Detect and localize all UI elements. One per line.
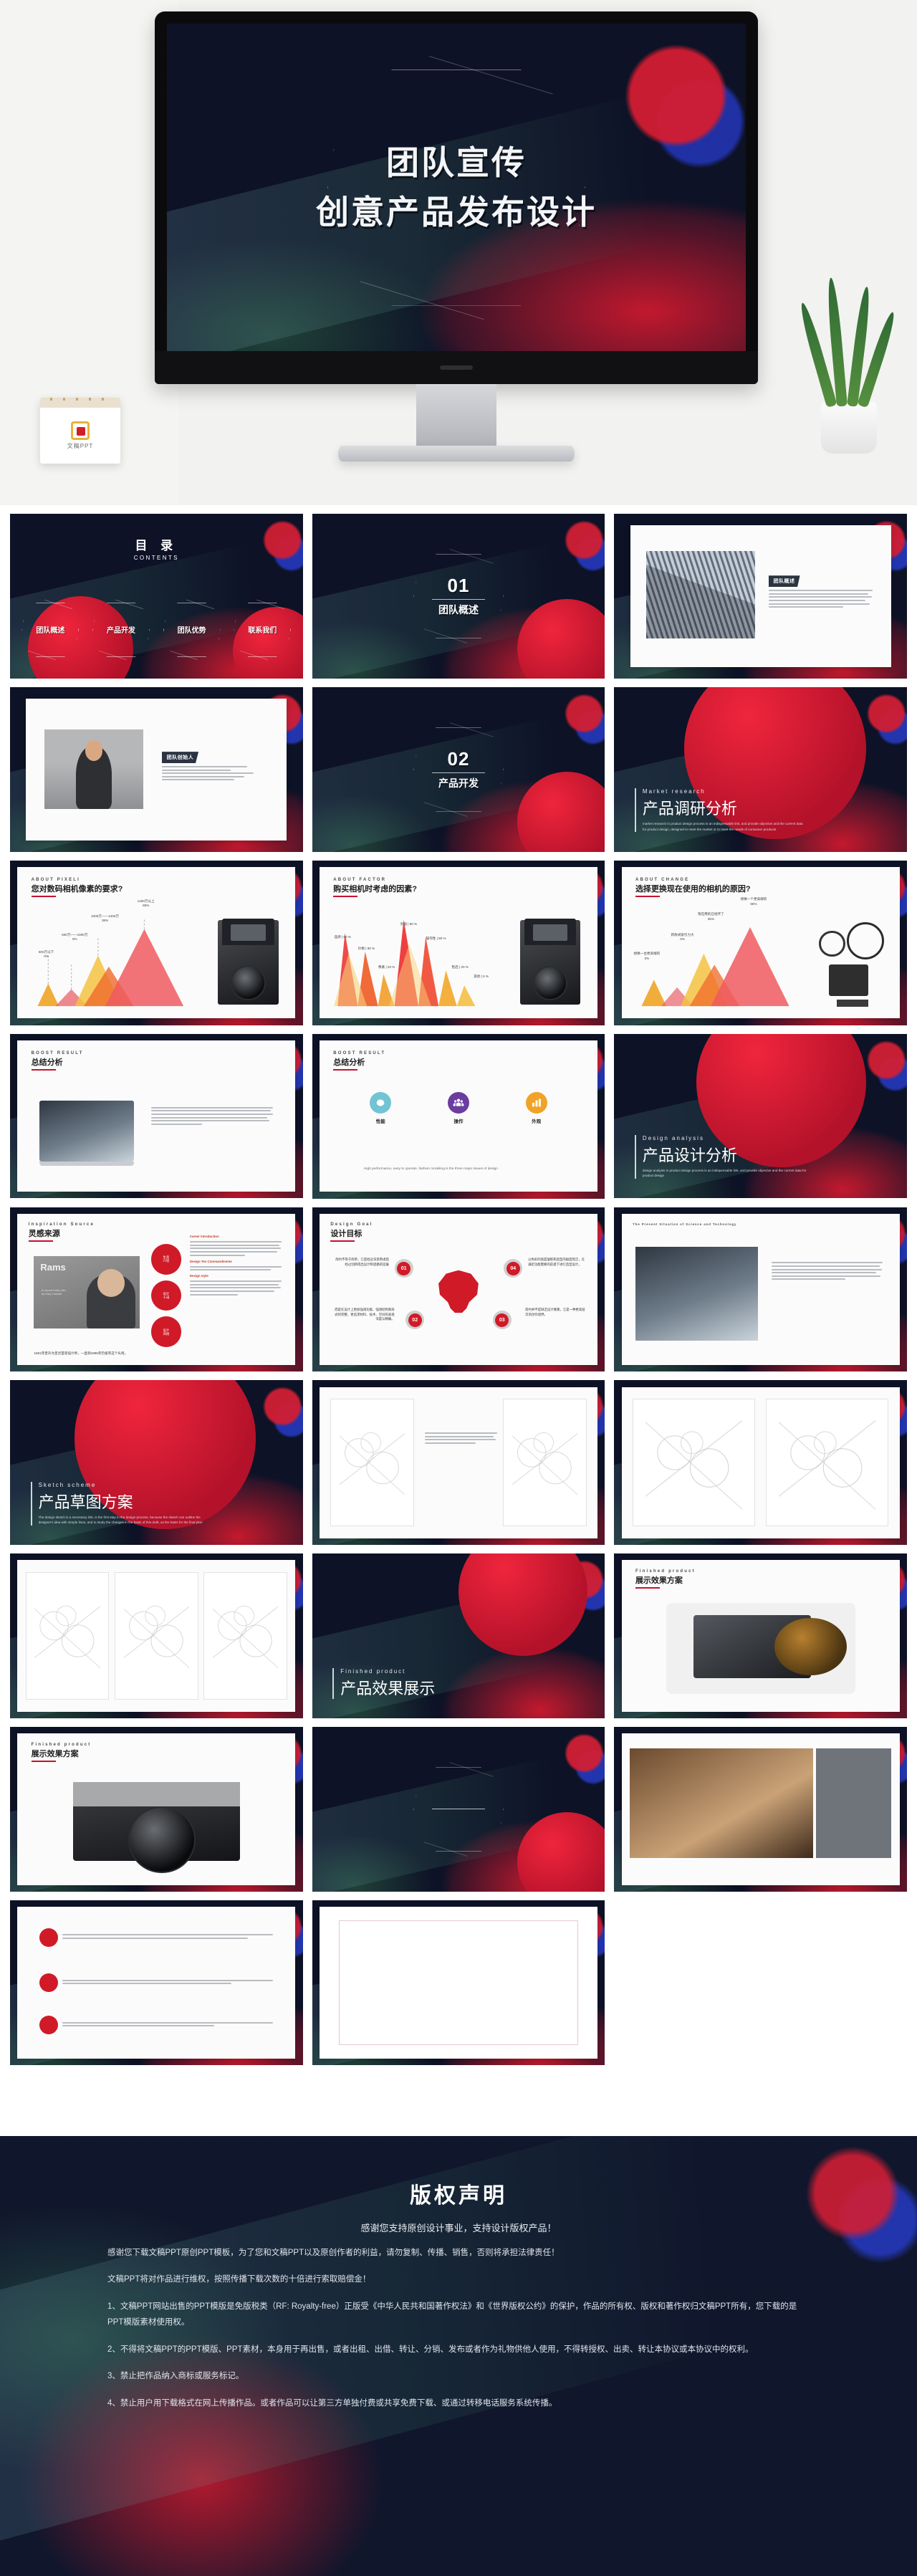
chart-eyebrow: ABOUT PIXELI (32, 878, 123, 882)
section-head: Design Ten Commandments (190, 1260, 282, 1263)
monitor-screen: 团队宣传 创意产品发布设计 (167, 24, 746, 351)
chart-title: 选择更换现在使用的相机的原因? (635, 883, 751, 894)
slide-thumb-boost-result-icons[interactable]: BOOST RESULT 总结分析 性能 操作 (312, 1034, 605, 1199)
toc-title-en: CONTENTS (10, 555, 303, 561)
area-chart: 想换一台更高端的0% 新款式吸引力大0% 现在用的已经坏了35% 想换一个更高端… (633, 912, 810, 1006)
slide-thumb-design-goal[interactable]: Design Goal 设计目标 01 02 03 04 简约不等于简单，它是经… (312, 1207, 605, 1372)
copyright-content: 版权声明 感谢您支持原创设计事业，支持设计版权产品！ 感谢您下载文稿PPT原创P… (0, 2136, 917, 2411)
big-title-block: Finished product 产品效果展示 (332, 1668, 435, 1699)
monitor-stand-base (338, 446, 575, 461)
slide-content-card: BOOST RESULT 总结分析 性能 操作 (320, 1040, 597, 1192)
body-text-lines (769, 590, 873, 608)
slide-title: 展示效果方案 (635, 1574, 696, 1586)
slide-thumb-inspiration[interactable]: Inspiration Source 灵感来源 Rams A documenta… (10, 1207, 303, 1372)
bars-icon (526, 1092, 547, 1114)
calendar-body: 文稿PPT (40, 408, 120, 464)
chart-value: 0% (44, 954, 49, 958)
camera-lens (128, 1806, 195, 1873)
chart-value: 65% (143, 904, 149, 907)
point-text-01: 简约不等于简单，它是经过深思熟虑后经过创新得出设计和思路的延展 (333, 1258, 389, 1268)
slide-thumb-effect-2[interactable]: Finished product 展示效果方案 (10, 1727, 303, 1892)
icon-item-operation[interactable]: 操作 (448, 1092, 469, 1124)
laptop-photo (39, 1101, 134, 1162)
slide-title: 总结分析 (32, 1056, 84, 1068)
chart-label: 现在用的已经坏了 (698, 912, 724, 916)
chart-title: 购买相机时考虑的因素? (333, 883, 417, 894)
monitor-stand-neck (416, 384, 496, 450)
slide-content-card: ABOUT FACTOR 购买相机时考虑的因素? 品牌 | 80 % 价 (320, 867, 597, 1018)
slide-content-card: ABOUT CHANGE 选择更换现在使用的相机的原因? 想换一台更高端的0% … (622, 867, 900, 1018)
sketch-page (115, 1572, 198, 1700)
toc-item-1[interactable]: 团队概述 (21, 603, 79, 657)
accent-underline (32, 1761, 56, 1762)
people-icon (448, 1092, 469, 1114)
slide-eyebrow: BOOST RESULT (333, 1051, 385, 1055)
sketch-page (503, 1399, 586, 1526)
copyright-p3: 1、文稿PPT网站出售的PPT模版是免版税类（RF: Royalty-free）… (107, 2299, 810, 2331)
desk-photo (630, 1748, 813, 1857)
slide-title: 总结分析 (333, 1056, 385, 1068)
title-en: Design analysis (643, 1135, 807, 1141)
chart-label: 新款式吸引力大 (671, 933, 694, 937)
camera-illustration (514, 919, 587, 1007)
chart-eyebrow: ABOUT CHANGE (635, 878, 751, 882)
advantage-badge (39, 1973, 58, 1992)
title-desc: design analysis in product design proces… (643, 1168, 807, 1179)
hexagon-frame-icon (403, 715, 514, 823)
poster-subtitle: A documentary film by Gary Hustwit (42, 1288, 66, 1296)
brain-bulb-icon (436, 1270, 481, 1315)
chart-label: 1400万以上 (138, 899, 155, 903)
hexagon-frame-icon (403, 542, 514, 650)
copyright-p5: 3、禁止把作品纳入商标或服务标记。 (107, 2368, 810, 2384)
slide-thumb-sketch-c[interactable] (10, 1553, 303, 1718)
toc-heading: 目 录 CONTENTS (10, 535, 303, 561)
poster-title: Rams (40, 1262, 65, 1273)
copyright-p2: 文稿PPT将对作品进行维权，按照传播下载次数的十倍进行索取赔偿金！ (107, 2271, 810, 2287)
title-zh: 产品草图方案 (39, 1490, 203, 1513)
slide-eyebrow: BOOST RESULT (32, 1051, 84, 1055)
accent-underline (330, 1240, 355, 1242)
body-text-lines (162, 766, 266, 780)
slide-thumb-about-pixel[interactable]: ABOUT PIXELI 您对数码相机像素的要求? 600万以下0% 6 (10, 861, 303, 1025)
point-number: 01 (397, 1262, 411, 1275)
monitor-logo (440, 365, 473, 370)
spike-chart: 品牌 | 80 % 价格 | 60 % 像素 | 20 % 外观 | 90 % … (330, 912, 514, 1006)
toc-item-label: 团队概述 (36, 624, 64, 635)
slide-eyebrow: Finished product (635, 1569, 696, 1574)
slide-thumb-market-research[interactable]: Market research 产品调研分析 market research i… (614, 687, 907, 852)
block-title: 团队概述 (769, 575, 800, 587)
chart-title: 您对数码相机像素的要求? (32, 883, 123, 894)
monitor-chin (155, 351, 758, 384)
slide-thumb-effect-1[interactable]: Finished product 展示效果方案 (614, 1553, 907, 1718)
thankyou-block (320, 1907, 597, 2058)
founder-photo (44, 729, 143, 809)
hands-camera-photo (635, 1247, 758, 1341)
toc-item-label: 联系我们 (248, 624, 277, 635)
title-line-1: 团队宣传 (386, 144, 527, 181)
hexagon-frame-icon (403, 1755, 514, 1863)
slide-content-card: 团队概述 (630, 525, 891, 667)
toc-item-4[interactable]: 联系我们 (234, 603, 291, 657)
section-divider: 02 产品开发 (312, 687, 605, 852)
sketch-page (330, 1399, 413, 1526)
toc-item-label: 团队优势 (178, 624, 206, 635)
calendar-logo-icon (71, 421, 90, 440)
slide-thumb-thank-you[interactable] (312, 1900, 605, 2065)
point-bubble-01[interactable]: 01 (395, 1259, 413, 1278)
accent-underline (333, 1069, 357, 1071)
accent-underline (29, 1240, 53, 1242)
advantage-row-2[interactable] (39, 1973, 273, 1992)
title-desc: The design sketch is a necessary link, i… (39, 1515, 203, 1526)
toc-items: 团队概述 产品开发 团队优势 联系我们 (21, 603, 291, 657)
slide-title: 展示效果方案 (32, 1748, 92, 1759)
sketch-page (26, 1572, 109, 1700)
icon-item-performance[interactable]: 性能 (370, 1092, 391, 1124)
title-slide-heading: 团队宣传 创意产品发布设计 (167, 138, 746, 237)
camera-top-plate (73, 1782, 240, 1806)
chart-label: 600万以下 (39, 950, 54, 954)
slide-thumb-about-change[interactable]: ABOUT CHANGE 选择更换现在使用的相机的原因? 想换一台更高端的0% … (614, 861, 907, 1025)
slide-content-card (320, 1387, 597, 1538)
title-slide-artwork: 团队宣传 创意产品发布设计 (167, 24, 746, 351)
slide-content-card (622, 1387, 900, 1538)
point-text-03: 简约并不是缺乏设计要素，它是一种更高层次的创作境界。 (525, 1308, 586, 1318)
chart-label: 想换一个更高端的 (741, 897, 767, 901)
copyright-heading: 版权声明 (107, 2178, 810, 2209)
advantage-badge (39, 2016, 58, 2034)
slide-content-card: Design Goal 设计目标 01 02 03 04 简约不等于简单，它是经… (320, 1214, 597, 1365)
point-bubble-02[interactable]: 02 (405, 1311, 424, 1329)
slide-eyebrow: Inspiration Source (29, 1222, 95, 1227)
body-text-lines (151, 1107, 274, 1127)
rams-poster: Rams A documentary film by Gary Hustwit (34, 1256, 140, 1329)
slide-content-card: Finished product 展示效果方案 (622, 1560, 900, 1711)
slide-thumb-toc[interactable]: 目 录 CONTENTS 团队概述 产品开发 团队优势 联系我们 (10, 514, 303, 679)
toc-title-zh: 目 录 (10, 535, 303, 553)
monitor-mockup: 团队宣传 创意产品发布设计 (155, 11, 758, 384)
desk-calendar: 文稿PPT (40, 398, 120, 464)
badge-commandments[interactable]: 设计十诫 (151, 1280, 182, 1311)
copyright-p6: 4、禁止用户用下载格式在网上传播作品。或者作品可以让第三方单独付费或共享免费下载… (107, 2395, 810, 2411)
slide-content-card: Finished product 展示效果方案 (17, 1733, 295, 1885)
area-chart: 600万以下0% 600万——1000万0% 1000万——1400万35% 1… (29, 912, 206, 1006)
point-number: 04 (506, 1262, 520, 1275)
accent-underline (635, 896, 660, 897)
slide-thumb-product-effect[interactable]: Finished product 产品效果展示 (312, 1553, 605, 1718)
slide-title: 灵感来源 (29, 1227, 95, 1239)
title-zh: 产品效果展示 (340, 1676, 435, 1699)
projector-illustration (816, 919, 888, 1007)
slide-content-card: 团队创始人 (26, 699, 287, 841)
icon-row: 性能 操作 外观 (342, 1092, 575, 1124)
copyright-lead: 感谢您支持原创设计事业，支持设计版权产品！ (107, 2221, 810, 2234)
slide-thumb-about-factor[interactable]: ABOUT FACTOR 购买相机时考虑的因素? 品牌 | 80 % 价 (312, 861, 605, 1025)
slide-thumb-sketch-scheme[interactable]: Sketch scheme 产品草图方案 The design sketch i… (10, 1380, 303, 1545)
section-head: Design style (190, 1274, 282, 1278)
rams-caption: 1961年晋升为百灵首席设计师，一直到1995年仍留有这个头衔。 (34, 1351, 145, 1356)
icon-label: 外观 (526, 1117, 547, 1124)
accent-underline (32, 1069, 56, 1071)
point-text-04: 以色彩的高度凝练和造型的极度简洁，在满足功能需要的前提下进行造型设计。 (528, 1258, 587, 1268)
chart-value: 0% (72, 937, 77, 941)
title-desc: market research in product design proces… (643, 821, 807, 832)
laptop-base (39, 1162, 134, 1166)
badge-style[interactable]: 设计风格 (151, 1316, 182, 1347)
gear-icon (370, 1092, 391, 1114)
body-text-lines (772, 1262, 883, 1282)
slide-thumb-advantage-list[interactable] (10, 1900, 303, 2065)
plant-pot (821, 402, 877, 454)
sketch-page (633, 1399, 755, 1526)
plant-decoration (805, 274, 891, 454)
slide-content-card (320, 1907, 597, 2058)
advantage-badge (39, 1928, 58, 1947)
slide-thumb-section-02[interactable]: 02 产品开发 (312, 687, 605, 852)
slide-content-card: ABOUT PIXELI 您对数码相机像素的要求? 600万以下0% 6 (17, 867, 295, 1018)
toc-item-label: 产品开发 (107, 624, 135, 635)
title-zh: 产品调研分析 (643, 796, 807, 819)
title-en: Finished product (340, 1668, 435, 1675)
slide-thumb-advantage-photo[interactable] (614, 1727, 907, 1892)
slide-content-card (17, 1907, 295, 2058)
point-text-02: 而是在设计上更加强调功能、强调结构和形式的完整，更追求材料、技术、空间的表现深度… (333, 1308, 394, 1322)
slide-thumb-section-01[interactable]: 01 团队概述 (312, 514, 605, 679)
chart-eyebrow: ABOUT FACTOR (333, 878, 417, 882)
slide-thumb-sketch-a[interactable] (312, 1380, 605, 1545)
icon-label: 操作 (448, 1117, 469, 1124)
section-head: Career introduction (190, 1235, 282, 1238)
photo-caption-block (816, 1748, 891, 1857)
icon-label: 性能 (370, 1117, 391, 1124)
toc-item-2[interactable]: 产品开发 (92, 603, 150, 657)
chart-value: 35% (102, 919, 108, 922)
advantage-row-1[interactable] (39, 1928, 273, 1947)
slide-thumb-team-overview[interactable]: 团队概述 (614, 514, 907, 679)
accent-underline (32, 896, 56, 897)
section-divider: 01 团队概述 (312, 514, 605, 679)
slide-thumb-section-03[interactable] (312, 1727, 605, 1892)
slide-eyebrow: Design Goal (330, 1222, 373, 1227)
slide-thumb-design-analysis[interactable]: Design analysis 产品设计分析 design analysis i… (614, 1034, 907, 1199)
slide-eyebrow: Finished product (32, 1743, 92, 1747)
slide-eyebrow: The Present Situation of Science and Tec… (633, 1222, 736, 1226)
calendar-rings (50, 398, 110, 401)
chart-label: 1000万——1400万 (91, 914, 119, 918)
camera-illustration (212, 919, 284, 1007)
slide-thumbnail-grid: 目 录 CONTENTS 团队概述 产品开发 团队优势 联系我们 01 团队概述… (0, 505, 917, 2074)
slide-title: 设计目标 (330, 1227, 373, 1239)
point-number: 02 (408, 1313, 422, 1327)
sketch-page (203, 1572, 287, 1700)
copyright-section: 版权声明 感谢您支持原创设计事业，支持设计版权产品！ 感谢您下载文稿PPT原创P… (0, 2136, 917, 2576)
slide-content-card: The Present Situation of Science and Tec… (622, 1214, 900, 1365)
point-number: 03 (495, 1313, 509, 1327)
title-line-2: 创意产品发布设计 (316, 193, 597, 231)
slide-content-card: Inspiration Source 灵感来源 Rams A documenta… (17, 1214, 295, 1365)
big-title-block: Design analysis 产品设计分析 design analysis i… (635, 1135, 807, 1179)
slide-content-card (17, 1560, 295, 1711)
title-en: Market research (643, 788, 807, 795)
block-title: 团队创始人 (162, 752, 199, 763)
camera-lens (774, 1618, 847, 1675)
slide-content-card (622, 1733, 900, 1885)
toc-item-3[interactable]: 团队优势 (163, 603, 221, 657)
accent-underline (333, 896, 357, 897)
title-en: Sketch scheme (39, 1482, 203, 1488)
hero-preview: 团队宣传 创意产品发布设计 文稿PPT (0, 0, 917, 505)
copyright-p4: 2、不得将文稿PPT的PPT模版、PPT素材，本身用于再出售，或者出租、出借、转… (107, 2342, 810, 2357)
accent-underline (635, 1587, 660, 1589)
title-zh: 产品设计分析 (643, 1143, 807, 1166)
rams-sections: Career introduction Design Ten Commandme… (190, 1235, 282, 1297)
slide-thumb-founder[interactable]: 团队创始人 (10, 687, 303, 852)
copyright-p1: 感谢您下载文稿PPT原创PPT模板，为了您和文稿PPT以及原创作者的利益，请勿复… (107, 2245, 810, 2261)
big-title-block: Sketch scheme 产品草图方案 The design sketch i… (31, 1482, 203, 1526)
slide-thumb-sketch-b[interactable] (614, 1380, 907, 1545)
point-bubble-04[interactable]: 04 (504, 1259, 522, 1278)
advantage-row-3[interactable] (39, 2016, 273, 2034)
calendar-brand: 文稿PPT (67, 442, 94, 450)
slide-thumb-science-tech[interactable]: The Present Situation of Science and Tec… (614, 1207, 907, 1372)
body-text-lines (425, 1432, 497, 1445)
big-title-block: Market research 产品调研分析 market research i… (635, 788, 807, 832)
slide-thumb-boost-result-text[interactable]: BOOST RESULT 总结分析 (10, 1034, 303, 1199)
chart-label: 600万——1000万 (62, 933, 87, 937)
chart-label: 想换一台更高端的 (634, 952, 661, 955)
slide-content-card: BOOST RESULT 总结分析 (17, 1040, 295, 1192)
icon-item-appearance[interactable]: 外观 (526, 1092, 547, 1124)
badge-career[interactable]: 生涯介绍 (151, 1244, 182, 1275)
building-photo (646, 551, 756, 639)
section-divider (312, 1727, 605, 1892)
icon-caption: High performance, easy to operate, fashi… (364, 1167, 559, 1172)
point-bubble-03[interactable]: 03 (493, 1311, 512, 1329)
sketch-page (766, 1399, 888, 1526)
